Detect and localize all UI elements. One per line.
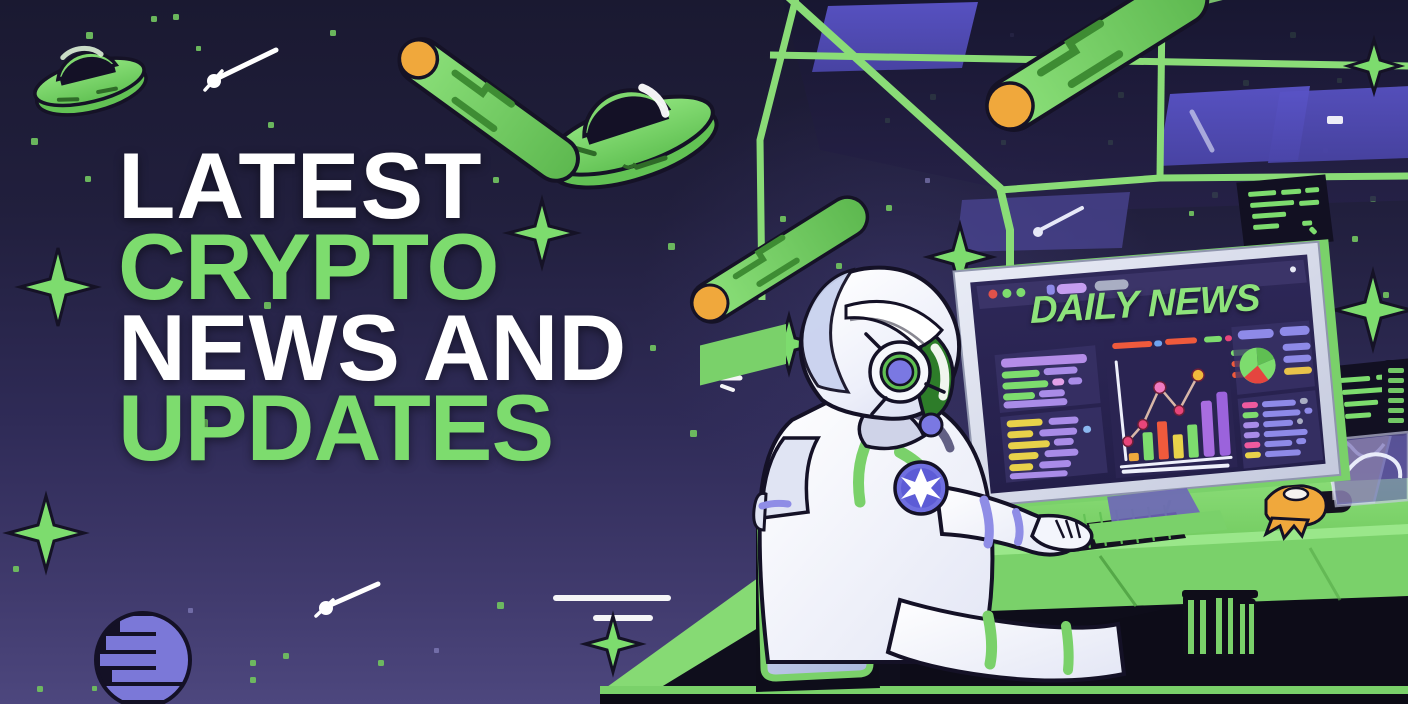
tab-indicator [1046,285,1055,295]
tab-pill-grey [1094,279,1129,291]
star-emblem [895,462,947,514]
pie-panel [1231,320,1315,395]
stat-list-panel-2 [1000,407,1108,483]
poster-canvas: LATEST CRYPTO NEWS AND UPDATES DAILY NEW… [0,0,1408,704]
page-title: LATEST CRYPTO NEWS AND UPDATES [118,146,626,469]
data-point [1153,381,1166,394]
battery-stack [1182,590,1258,656]
data-point [1123,436,1134,447]
headline-line-4: UPDATES [118,388,626,469]
side-led-strip [1382,360,1408,436]
table-panel [1237,390,1323,469]
stat-list-panel [994,345,1100,413]
data-point [1138,419,1149,430]
tab-pill-purple [1056,283,1087,295]
data-point [1174,405,1185,416]
data-point [1192,369,1205,382]
